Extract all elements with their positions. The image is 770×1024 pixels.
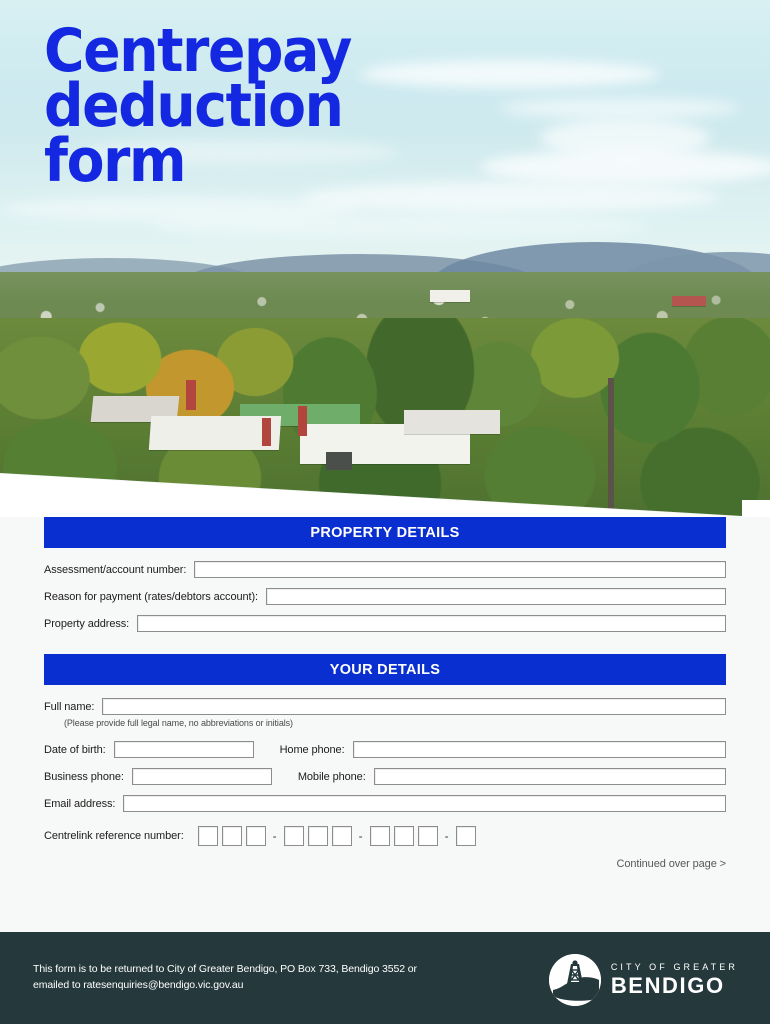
chimney [262, 418, 271, 446]
mobile-phone-input[interactable] [374, 768, 726, 785]
field-row-dob-home-phone: Date of birth: Home phone: [44, 741, 726, 758]
section-header-your-details: YOUR DETAILS [44, 654, 726, 685]
crn-digit-box[interactable] [394, 826, 414, 846]
continued-over-page-note: Continued over page > [0, 846, 770, 870]
chimney [186, 380, 196, 410]
brand-top-line: CITY OF GREATER [611, 963, 738, 972]
label-mobile-phone: Mobile phone: [298, 771, 366, 783]
field-row-business-mobile-phone: Business phone: Mobile phone: [44, 768, 726, 785]
assessment-account-number-input[interactable] [194, 561, 726, 578]
form-body: PROPERTY DETAILS Assessment/account numb… [0, 517, 770, 932]
centrelink-reference-number-boxes[interactable]: --- [198, 826, 476, 846]
field-row-assessment-account-number: Assessment/account number: [44, 561, 726, 578]
crn-digit-box[interactable] [370, 826, 390, 846]
label-centrelink-reference-number: Centrelink reference number: [44, 830, 184, 842]
brand-wordmark: CITY OF GREATER BENDIGO [611, 963, 738, 997]
label-home-phone: Home phone: [280, 744, 345, 756]
rooftop [672, 296, 706, 306]
crn-digit-box[interactable] [198, 826, 218, 846]
page-footer: This form is to be returned to City of G… [0, 932, 770, 1024]
label-reason-for-payment: Reason for payment (rates/debtors accoun… [44, 591, 258, 603]
section-header-property-details: PROPERTY DETAILS [44, 517, 726, 548]
page-title: Centrepay deduction form [44, 24, 430, 190]
label-business-phone: Business phone: [44, 771, 124, 783]
footer-return-instructions: This form is to be returned to City of G… [33, 962, 417, 994]
crn-separator-dash: - [270, 829, 280, 843]
label-full-name: Full name: [44, 701, 94, 713]
roof-air-conditioner [326, 452, 352, 470]
field-row-centrelink-reference-number: Centrelink reference number: --- [44, 826, 726, 846]
business-phone-input[interactable] [132, 768, 272, 785]
email-address-input[interactable] [123, 795, 726, 812]
crn-digit-box[interactable] [246, 826, 266, 846]
brand-bottom-line: BENDIGO [611, 975, 738, 997]
cloud-icon [500, 98, 740, 118]
full-name-input[interactable] [102, 698, 726, 715]
property-details-fields: Assessment/account number: Reason for pa… [0, 561, 770, 632]
full-name-hint: (Please provide full legal name, no abbr… [64, 718, 726, 728]
brand-lockup: CITY OF GREATER BENDIGO [549, 954, 738, 1006]
label-email-address: Email address: [44, 798, 115, 810]
crn-separator-dash: - [442, 829, 452, 843]
crn-digit-box[interactable] [308, 826, 328, 846]
home-phone-input[interactable] [353, 741, 726, 758]
crn-digit-box[interactable] [222, 826, 242, 846]
rooftop [404, 410, 500, 434]
cloud-icon [540, 118, 710, 158]
your-details-fields: Full name: (Please provide full legal na… [0, 698, 770, 846]
field-row-reason-for-payment: Reason for payment (rates/debtors accoun… [44, 588, 726, 605]
property-address-input[interactable] [137, 615, 726, 632]
crn-separator-dash: - [356, 829, 366, 843]
chimney [298, 406, 307, 436]
utility-pole [608, 378, 614, 518]
date-of-birth-input[interactable] [114, 741, 254, 758]
bendigo-poppet-head-icon [549, 954, 601, 1006]
label-property-address: Property address: [44, 618, 129, 630]
field-row-property-address: Property address: [44, 615, 726, 632]
field-row-email-address: Email address: [44, 795, 726, 812]
crn-digit-box[interactable] [418, 826, 438, 846]
crn-digit-box[interactable] [284, 826, 304, 846]
hero-photo: Centrepay deduction form [0, 0, 770, 520]
reason-for-payment-input[interactable] [266, 588, 726, 605]
label-assessment-account-number: Assessment/account number: [44, 564, 186, 576]
crn-digit-box[interactable] [456, 826, 476, 846]
rooftop [430, 290, 470, 302]
cloud-icon [150, 215, 650, 237]
centrepay-deduction-form-page: Centrepay deduction form PROPERTY DETAIL… [0, 0, 770, 1024]
crn-digit-box[interactable] [332, 826, 352, 846]
field-row-full-name: Full name: [44, 698, 726, 715]
label-date-of-birth: Date of birth: [44, 744, 106, 756]
